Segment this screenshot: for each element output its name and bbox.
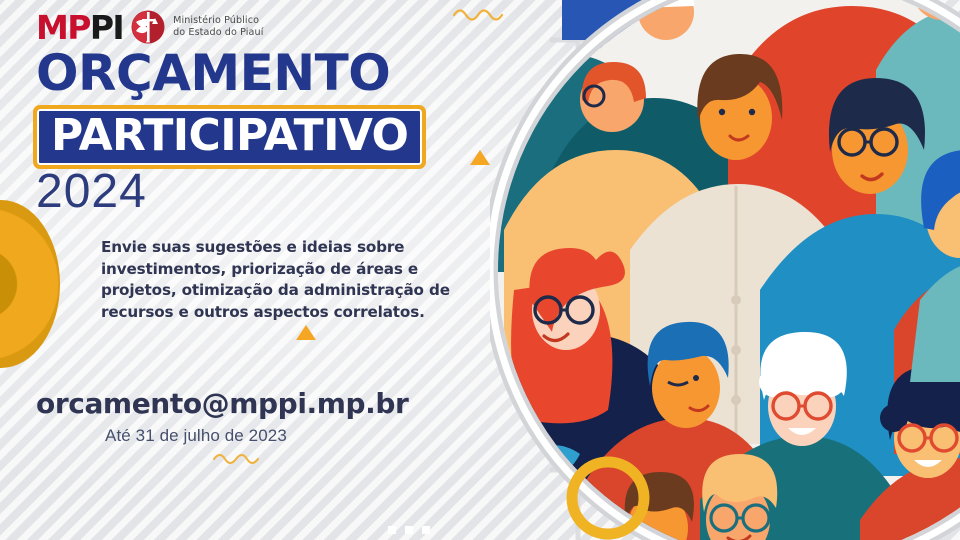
mppi-shield-emblem-icon xyxy=(131,10,165,44)
logo-wordmark-pi: PI xyxy=(90,8,123,47)
page-title-box: PARTICIPATIVO xyxy=(33,105,426,169)
page-title-year: 2024 xyxy=(36,168,147,216)
page-title-line2: PARTICIPATIVO xyxy=(51,110,408,161)
triangle-up-icon xyxy=(470,150,490,165)
logo-wordmark-mp: MP xyxy=(36,8,90,47)
poster-canvas: MPPI Ministério Público do Estado do Pia… xyxy=(0,0,960,540)
body-paragraph: Envie suas sugestões e ideias sobre inve… xyxy=(101,237,491,324)
dot-1 xyxy=(388,526,396,534)
mppi-logo[interactable]: MPPI Ministério Público do Estado do Pia… xyxy=(36,10,264,44)
dot-3 xyxy=(422,526,430,534)
contact-email[interactable]: orcamento@mppi.mp.br xyxy=(36,390,408,418)
page-title-line1: ORÇAMENTO xyxy=(36,48,390,98)
wavy-line-icon xyxy=(452,5,508,23)
logo-wordmark: MPPI xyxy=(36,11,123,44)
concentric-circle-icon xyxy=(0,200,60,368)
triangle-up-icon xyxy=(296,325,316,340)
contact-deadline: Até 31 de julho de 2023 xyxy=(105,427,287,444)
wavy-line-icon xyxy=(212,450,264,466)
logo-subtitle: Ministério Público do Estado do Piauí xyxy=(173,15,263,38)
diverse-crowd-illustration xyxy=(490,0,960,540)
left-content-panel: MPPI Ministério Público do Estado do Pia… xyxy=(0,0,520,540)
dot-2 xyxy=(405,526,413,534)
three-dots-icon xyxy=(388,526,430,534)
